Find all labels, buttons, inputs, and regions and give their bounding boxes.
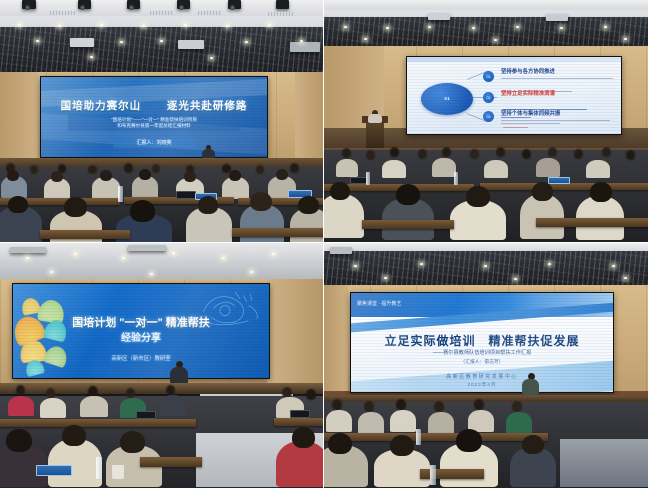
audience-desk-front (140, 457, 202, 467)
water-bottle (366, 172, 370, 185)
audience-head (496, 147, 505, 157)
audience-torso (506, 412, 532, 434)
audience-head-front (62, 425, 86, 446)
audience-head (46, 388, 55, 398)
audience-head-front (590, 182, 612, 202)
desk-placard (548, 177, 570, 184)
audience-torso (336, 159, 358, 177)
audience-head-front (64, 197, 87, 217)
audience-head (396, 399, 406, 410)
audience-head-front (390, 435, 414, 456)
audience-head (51, 171, 63, 182)
audience-desk (480, 183, 648, 190)
audience-head-front (8, 196, 28, 213)
audience-head (512, 401, 522, 412)
audience-head (100, 170, 112, 181)
audience-head (126, 388, 135, 398)
audience-torso (40, 398, 66, 418)
audience-head (306, 389, 316, 400)
audience-head-front (456, 429, 482, 452)
audience-torso (8, 396, 34, 416)
audience-head (30, 165, 38, 174)
audience-torso-front (324, 194, 364, 238)
audience-area-top-left (0, 0, 323, 242)
audience-torso (160, 395, 186, 416)
audience-desk-front (232, 228, 323, 237)
audience-torso (390, 410, 416, 432)
audience-area-bottom-left (0, 243, 323, 488)
audience-head (602, 147, 611, 157)
audience-head (342, 148, 351, 158)
water-bottle (416, 429, 421, 445)
water-bottle (430, 465, 436, 485)
audience-head (418, 149, 427, 159)
audience-torso (586, 160, 610, 178)
audience-head (152, 164, 160, 173)
audience-desk-front (536, 218, 648, 227)
audience-laptop (176, 191, 196, 199)
water-bottle (96, 457, 102, 479)
audience-head-front (130, 200, 155, 222)
audience-desk (0, 419, 196, 427)
audience-head (124, 163, 133, 173)
audience-head (332, 399, 342, 410)
audience-torso (358, 412, 384, 434)
audience-head (434, 401, 444, 412)
audience-head-front (298, 196, 319, 214)
audience-head-front (198, 196, 218, 214)
audience-torso (326, 410, 352, 432)
audience-head-front (466, 186, 490, 207)
panel-top-left: 国培助力赛尔山 逐光共赴研修路 "国培计划"——"一对一" 精准帮扶培训项目 和… (0, 0, 323, 242)
audience-head (364, 401, 374, 412)
panel-bottom-right: 聚焦课堂 · 提升教艺 立足实际做培训 精准帮扶促发展 ——赛尔县教师队伍培训项… (324, 243, 648, 488)
audience-laptop (290, 410, 310, 418)
audience-torso (382, 160, 406, 178)
audience-head (522, 149, 531, 159)
audience-head (88, 165, 97, 174)
panel-top-right: 01 01 坚持参与各方协同推进 02 (324, 0, 648, 242)
audience-head (16, 385, 25, 395)
audience-desk (274, 418, 323, 426)
audience-head-front (120, 431, 145, 453)
audience-head (626, 150, 635, 160)
water-bottle (118, 186, 123, 202)
audience-torso (432, 158, 456, 177)
audience-head-front (328, 433, 352, 454)
audience-head (470, 149, 479, 159)
audience-torso-front (48, 439, 102, 487)
audience-head-front (6, 429, 32, 452)
audience-head (442, 147, 451, 157)
audience-laptop (136, 411, 156, 419)
audience-head (7, 170, 19, 181)
audience-torso (80, 396, 108, 417)
audience-torso (484, 160, 508, 178)
audience-head (166, 385, 175, 395)
audience-head (474, 399, 484, 410)
photo-collage: 国培助力赛尔山 逐光共赴研修路 "国培计划"——"一对一" 精准帮扶培训项目 和… (0, 0, 648, 487)
audience-head-front (292, 427, 315, 448)
water-bottle (454, 172, 458, 185)
audience-head (574, 149, 583, 159)
audience-head (276, 169, 288, 180)
audience-area-top-right (324, 0, 648, 242)
audience-head (290, 163, 299, 173)
aisle-floor (560, 439, 648, 487)
panel-bottom-left: 国培计划 "一对一" 精准帮扶 经验分享 高新区（新市区）教研室 (0, 243, 323, 488)
audience-head-front (250, 192, 272, 211)
paper-cup (112, 465, 124, 479)
audience-head-front (532, 182, 553, 201)
audience-head (256, 165, 264, 174)
audience-torso (428, 412, 454, 434)
audience-head (366, 150, 375, 160)
audience-area-bottom-right (324, 243, 648, 488)
audience-head (139, 169, 151, 180)
audience-head (390, 147, 399, 157)
audience-head-front (396, 184, 420, 205)
audience-head-front (522, 435, 544, 454)
audience-head (548, 147, 557, 157)
audience-head (184, 171, 196, 182)
desk-placard (36, 465, 72, 476)
audience-head-front (330, 182, 350, 200)
audience-desk-front (40, 230, 130, 239)
audience-head (229, 170, 241, 181)
audience-torso (536, 158, 560, 177)
audience-desk (324, 433, 548, 441)
audience-desk-front (362, 220, 454, 229)
